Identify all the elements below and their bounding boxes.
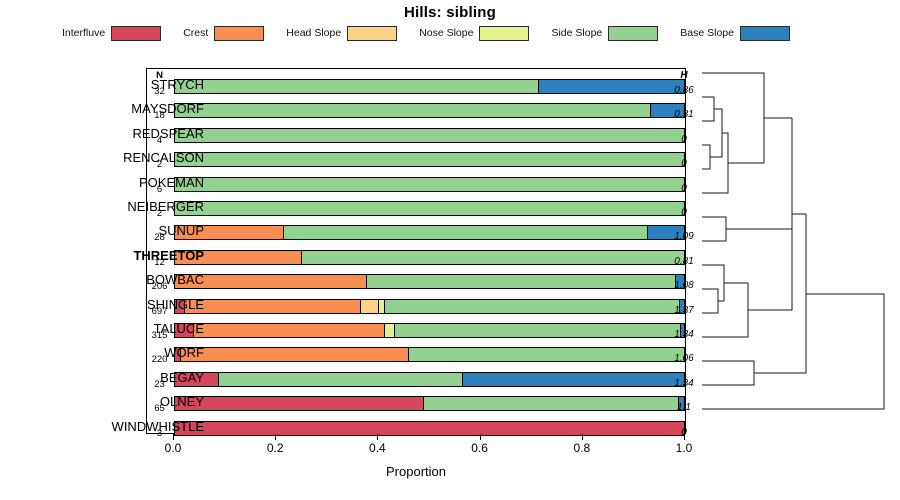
bar-segment [367,275,676,288]
legend-swatch [111,26,161,41]
n-value: 2 [146,208,173,219]
bar-segment [175,178,684,191]
stacked-bar[interactable] [174,396,685,411]
x-tick-label: 0.4 [369,441,386,455]
bar-rows [147,69,685,433]
plot-frame [146,68,686,434]
legend-item[interactable]: Base Slope [680,26,812,41]
legend-swatch [740,26,790,41]
bar-segment [175,80,539,93]
bar-segment [409,348,684,361]
stacked-bar[interactable] [174,103,685,118]
x-tick-label: 0.2 [267,441,284,455]
bar-segment [175,397,424,410]
x-tick [173,434,174,440]
legend-label: Interfluve [62,27,105,39]
legend-swatch [608,26,658,41]
stacked-bar[interactable] [174,372,685,387]
n-value: 32 [146,86,173,97]
bar-segment [539,80,684,93]
bar-segment [395,324,681,337]
bar-segment [385,324,395,337]
bar-segment [175,422,684,435]
legend-item[interactable]: Head Slope [286,26,419,41]
bar-segment [175,129,684,142]
bar-segment [175,153,684,166]
legend-swatch [479,26,529,41]
n-value: 2 [146,159,173,170]
legend-label: Nose Slope [419,27,473,39]
n-value: 23 [146,379,173,390]
stacked-bar[interactable] [174,225,685,240]
stacked-bar[interactable] [174,177,685,192]
x-axis: 0.00.20.40.60.81.0 [146,434,686,464]
legend-item[interactable]: Nose Slope [419,26,551,41]
chart-root: Hills: sibling InterfluveCrestHead Slope… [0,0,900,500]
bar-segment [181,348,409,361]
bar-segment [185,300,361,313]
stacked-bar[interactable] [174,323,685,338]
x-tick [377,434,378,440]
bar-segment [219,373,462,386]
bar-segment [284,226,648,239]
stacked-bar[interactable] [174,79,685,94]
legend-label: Crest [183,27,208,39]
x-tick [684,434,685,440]
x-tick-label: 0.6 [471,441,488,455]
bar-segment [379,300,386,313]
stacked-bar[interactable] [174,274,685,289]
stacked-bar[interactable] [174,299,685,314]
n-value: 6 [146,184,173,195]
x-tick-label: 0.0 [165,441,182,455]
dendrogram [688,64,900,436]
bar-segment [194,324,385,337]
stacked-bar[interactable] [174,128,685,143]
legend: InterfluveCrestHead SlopeNose SlopeSide … [62,25,782,41]
x-tick [275,434,276,440]
x-tick [480,434,481,440]
dendrogram-svg [688,64,900,436]
legend-swatch [214,26,264,41]
legend-label: Side Slope [551,27,602,39]
n-value: 697 [146,306,173,317]
stacked-bar[interactable] [174,250,685,265]
bar-segment [302,251,684,264]
x-tick-label: 1.0 [676,441,693,455]
bar-segment [361,300,379,313]
legend-label: Base Slope [680,27,734,39]
bar-segment [463,373,684,386]
legend-swatch [347,26,397,41]
n-value: 18 [146,110,173,121]
n-value: 206 [146,281,173,292]
legend-item[interactable]: Side Slope [551,26,680,41]
n-value: 220 [146,354,173,365]
page-title: Hills: sibling [0,4,900,21]
n-value: 4 [146,135,173,146]
legend-item[interactable]: Crest [183,26,286,41]
n-column-header: N [146,70,173,81]
n-value: 315 [146,330,173,341]
stacked-bar[interactable] [174,152,685,167]
stacked-bar[interactable] [174,347,685,362]
bar-segment [175,202,684,215]
bar-segment [424,397,679,410]
x-axis-label: Proportion [146,464,686,479]
n-value: 28 [146,232,173,243]
n-value: 65 [146,403,173,414]
bar-segment [385,300,680,313]
legend-item[interactable]: Interfluve [62,26,183,41]
x-tick [582,434,583,440]
legend-label: Head Slope [286,27,341,39]
stacked-bar[interactable] [174,201,685,216]
x-tick-label: 0.8 [573,441,590,455]
n-value: 12 [146,257,173,268]
bar-segment [175,104,651,117]
